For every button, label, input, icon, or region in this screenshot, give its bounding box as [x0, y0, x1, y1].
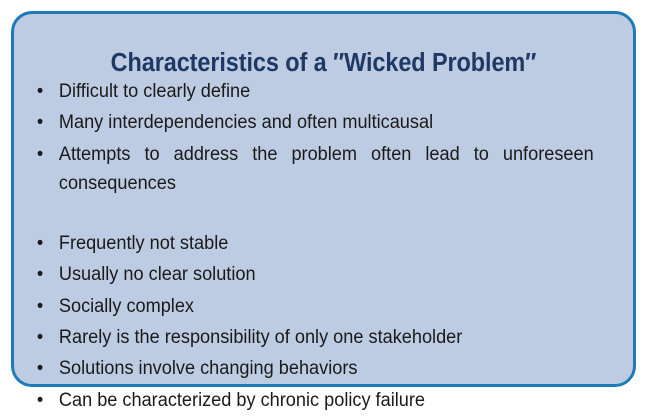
- screenshot-canvas: Characteristics of a ″Wicked Problem″ • …: [0, 0, 650, 405]
- bullet-point-icon: •: [37, 230, 50, 259]
- bullet-point-icon: •: [37, 78, 50, 107]
- page-title: Characteristics of a ″Wicked Problem″: [39, 48, 608, 78]
- list-item-label: Difficult to clearly define: [59, 78, 594, 107]
- list-item-label: Frequently not stable: [59, 230, 594, 259]
- list-item: • Attempts to address the problem often …: [35, 141, 594, 227]
- list-item: • Rarely is the responsibility of only o…: [35, 324, 594, 353]
- list-item-label: Socially complex: [59, 293, 594, 322]
- bullet-point-icon: •: [37, 141, 50, 170]
- list-item-label: Can be characterized by chronic policy f…: [59, 387, 594, 416]
- bullet-point-icon: •: [37, 293, 50, 322]
- list-item: • Can be characterized by chronic policy…: [35, 387, 594, 416]
- bullet-point-icon: •: [37, 109, 50, 138]
- list-item-label: Rarely is the responsibility of only one…: [59, 324, 594, 353]
- list-item: • Frequently not stable: [35, 230, 594, 259]
- list-item-label: Usually no clear solution: [59, 261, 594, 290]
- list-item-label: Solutions involve changing behaviors: [59, 355, 594, 384]
- bullet-point-icon: •: [37, 387, 50, 416]
- list-item: • Many interdependencies and often multi…: [35, 109, 594, 138]
- list-item: • Solutions involve changing behaviors: [35, 355, 594, 384]
- bullet-point-icon: •: [37, 261, 50, 290]
- list-item-label: Attempts to address the problem often le…: [59, 141, 594, 227]
- wicked-problem-callout-box: Characteristics of a ″Wicked Problem″ • …: [11, 11, 636, 387]
- list-item: • Usually no clear solution: [35, 261, 594, 290]
- list-item-label: Many interdependencies and often multica…: [59, 109, 594, 138]
- list-item: • Difficult to clearly define: [35, 78, 594, 107]
- bullet-point-icon: •: [37, 355, 50, 384]
- characteristics-list: • Difficult to clearly define • Many int…: [35, 78, 620, 418]
- bullet-point-icon: •: [37, 324, 50, 353]
- list-item: • Socially complex: [35, 293, 594, 322]
